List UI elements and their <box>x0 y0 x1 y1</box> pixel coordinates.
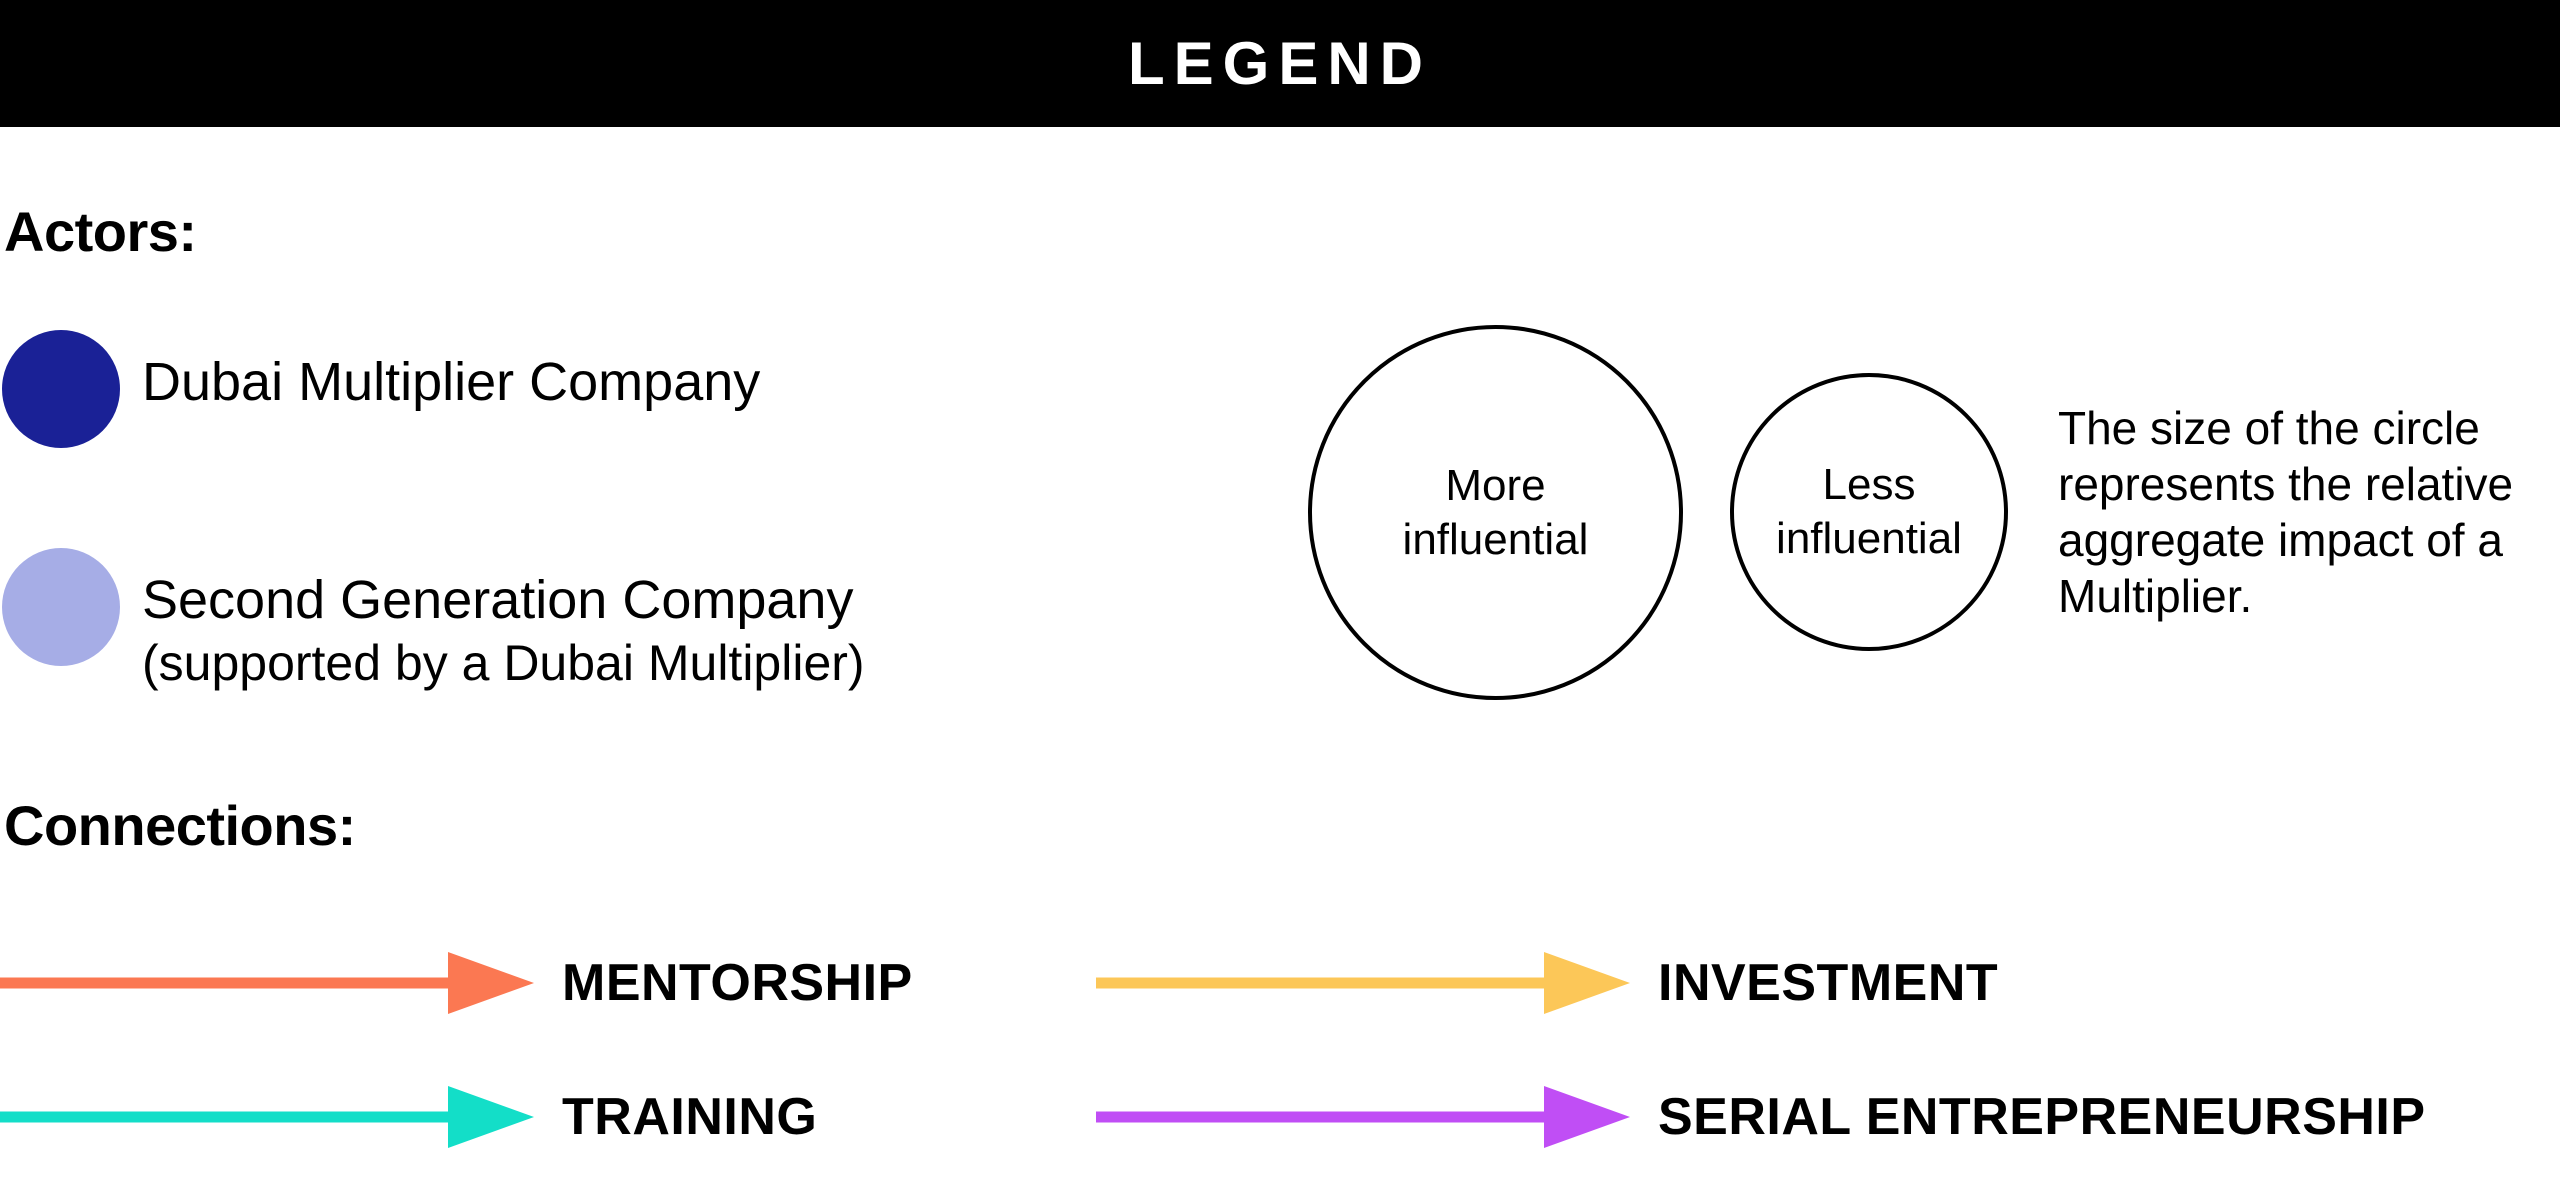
arrow-head <box>1544 952 1630 1014</box>
actor-label-text: Second Generation Company <box>142 570 853 630</box>
arrow-shaft <box>1096 1112 1548 1123</box>
legend-header-bar: LEGEND <box>0 0 2560 127</box>
training-arrow-icon <box>0 1086 534 1148</box>
serial-entrepreneurship-arrow-icon <box>1096 1086 1630 1148</box>
mentorship-arrow-icon <box>0 952 534 1014</box>
more-influential-label: More influential <box>1403 459 1589 567</box>
actor-label-group: Second Generation Company (supported by … <box>142 548 865 694</box>
more-influential-circle: More influential <box>1308 325 1683 700</box>
arrow-head <box>448 952 534 1014</box>
actor-legend-item-second-generation: Second Generation Company (supported by … <box>0 548 865 694</box>
more-influential-line-2: influential <box>1403 513 1589 567</box>
less-influential-circle: Less influential <box>1730 373 2008 651</box>
arrow-head <box>448 1086 534 1148</box>
arrow-head <box>1544 1086 1630 1148</box>
dubai-multiplier-circle-swatch <box>2 330 120 448</box>
second-generation-circle-swatch <box>2 548 120 666</box>
actor-label-text: Dubai Multiplier Company <box>142 352 760 412</box>
circle-size-explanation-text: The size of the circle represents the re… <box>2058 400 2560 624</box>
connection-legend-item-serial-entrepreneurship: SERIAL ENTREPRENEURSHIP <box>1096 1086 2426 1148</box>
connection-label-investment: INVESTMENT <box>1658 957 1998 1009</box>
connection-label-training: TRAINING <box>562 1091 817 1143</box>
arrow-shaft <box>0 978 452 989</box>
less-influential-line-2: influential <box>1776 512 1962 566</box>
actors-section-heading: Actors: <box>4 204 197 260</box>
actor-sublabel-text: (supported by a Dubai Multiplier) <box>142 632 865 694</box>
less-influential-line-1: Less <box>1776 458 1962 512</box>
connections-section-heading: Connections: <box>4 798 356 854</box>
connection-label-serial-entrepreneurship: SERIAL ENTREPRENEURSHIP <box>1658 1091 2426 1143</box>
connection-legend-item-investment: INVESTMENT <box>1096 952 1998 1014</box>
connection-legend-item-mentorship: MENTORSHIP <box>0 952 913 1014</box>
less-influential-label: Less influential <box>1776 458 1962 566</box>
arrow-shaft <box>0 1112 452 1123</box>
more-influential-line-1: More <box>1403 459 1589 513</box>
connection-legend-item-training: TRAINING <box>0 1086 817 1148</box>
actor-legend-item-dubai-multiplier: Dubai Multiplier Company <box>0 330 760 448</box>
page-title: LEGEND <box>1128 34 1432 94</box>
connection-label-mentorship: MENTORSHIP <box>562 957 913 1009</box>
actor-label-group: Dubai Multiplier Company <box>142 330 760 414</box>
arrow-shaft <box>1096 978 1548 989</box>
investment-arrow-icon <box>1096 952 1630 1014</box>
